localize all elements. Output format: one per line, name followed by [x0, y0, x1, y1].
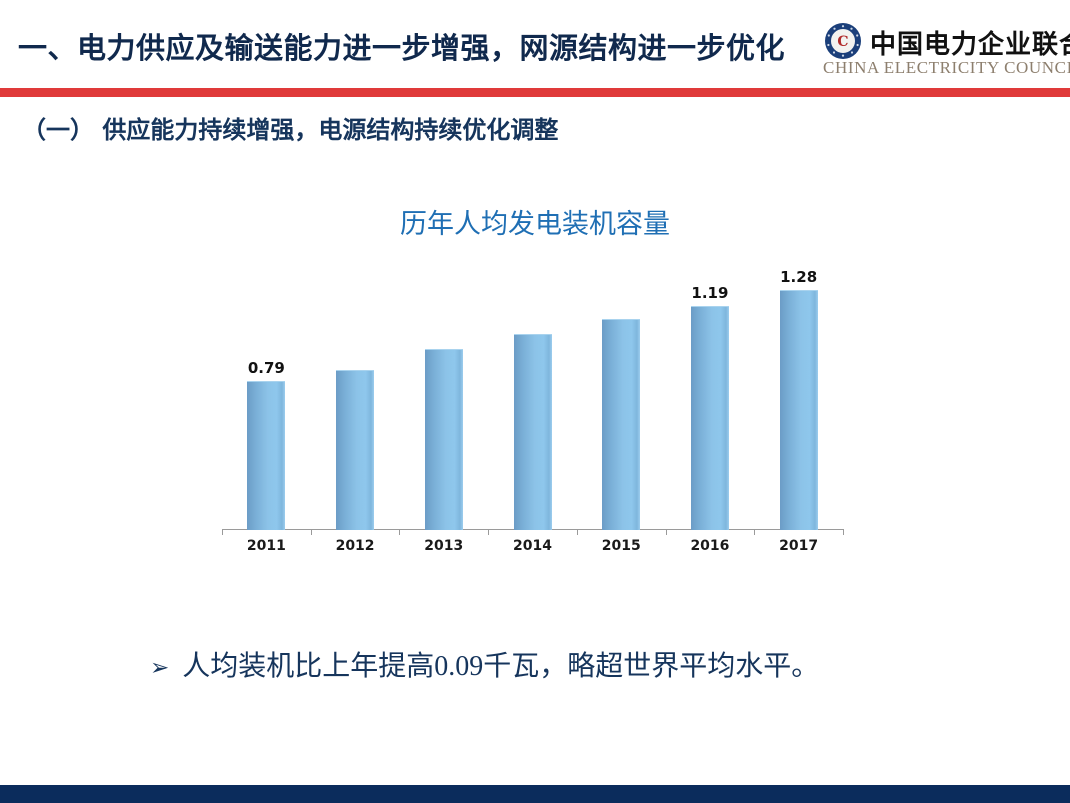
chart-bar-value-label: 1.28 [769, 268, 829, 286]
chart-category-label: 2013 [409, 538, 479, 554]
chart-container: 历年人均发电装机容量 0.79201120122013201420151.192… [150, 190, 920, 570]
chart-bar [780, 290, 818, 530]
chart-bar [602, 319, 640, 530]
axis-tick [666, 529, 667, 535]
slide-header: 一、电力供应及输送能力进一步增强，网源结构进一步优化 C [0, 0, 1070, 88]
chart-category-label: 2016 [675, 538, 745, 554]
header-red-divider [0, 88, 1070, 97]
axis-tick [754, 529, 755, 535]
chart-bar-value-label: 0.79 [236, 359, 296, 377]
chart-bar [247, 381, 285, 530]
axis-tick [488, 529, 489, 535]
axis-tick [222, 529, 223, 535]
slide-root: 一、电力供应及输送能力进一步增强，网源结构进一步优化 C [0, 0, 1070, 803]
section-subtitle: （一） 供应能力持续增强，电源结构持续优化调整 [22, 110, 558, 145]
logo-chinese-name: 中国电力企业联合会 [870, 24, 1070, 61]
bullet-text: 人均装机比上年提高0.09千瓦，略超世界平均水平。 [182, 644, 819, 684]
chart-bar [691, 306, 729, 530]
organization-logo: C 中国电力企业联合会 CHINA ELECTRICITY COUNCIL [822, 20, 1062, 82]
axis-tick [399, 529, 400, 535]
chart-bar [425, 349, 463, 530]
chart-category-label: 2011 [231, 538, 301, 554]
chart-bar-value-label: 1.19 [680, 284, 740, 302]
bullet-arrow-icon: ➢ [150, 657, 169, 680]
bullet-point: ➢ 人均装机比上年提高0.09千瓦，略超世界平均水平。 [150, 644, 970, 684]
chart-bar [336, 370, 374, 530]
chart-category-label: 2014 [498, 538, 568, 554]
axis-tick [843, 529, 844, 535]
svg-text:C: C [837, 34, 848, 50]
chart-bar [514, 334, 552, 530]
chart-category-label: 2015 [586, 538, 656, 554]
page-title: 一、电力供应及输送能力进一步增强，网源结构进一步优化 [18, 25, 785, 67]
axis-tick [577, 529, 578, 535]
cec-emblem-icon: C [824, 22, 862, 60]
axis-tick [311, 529, 312, 535]
chart-category-label: 2012 [320, 538, 390, 554]
chart-category-label: 2017 [764, 538, 834, 554]
footer-bar [0, 785, 1070, 803]
logo-english-name: CHINA ELECTRICITY COUNCIL [823, 58, 1070, 78]
chart-plot-area: 0.79201120122013201420151.1920161.282017 [150, 190, 920, 570]
